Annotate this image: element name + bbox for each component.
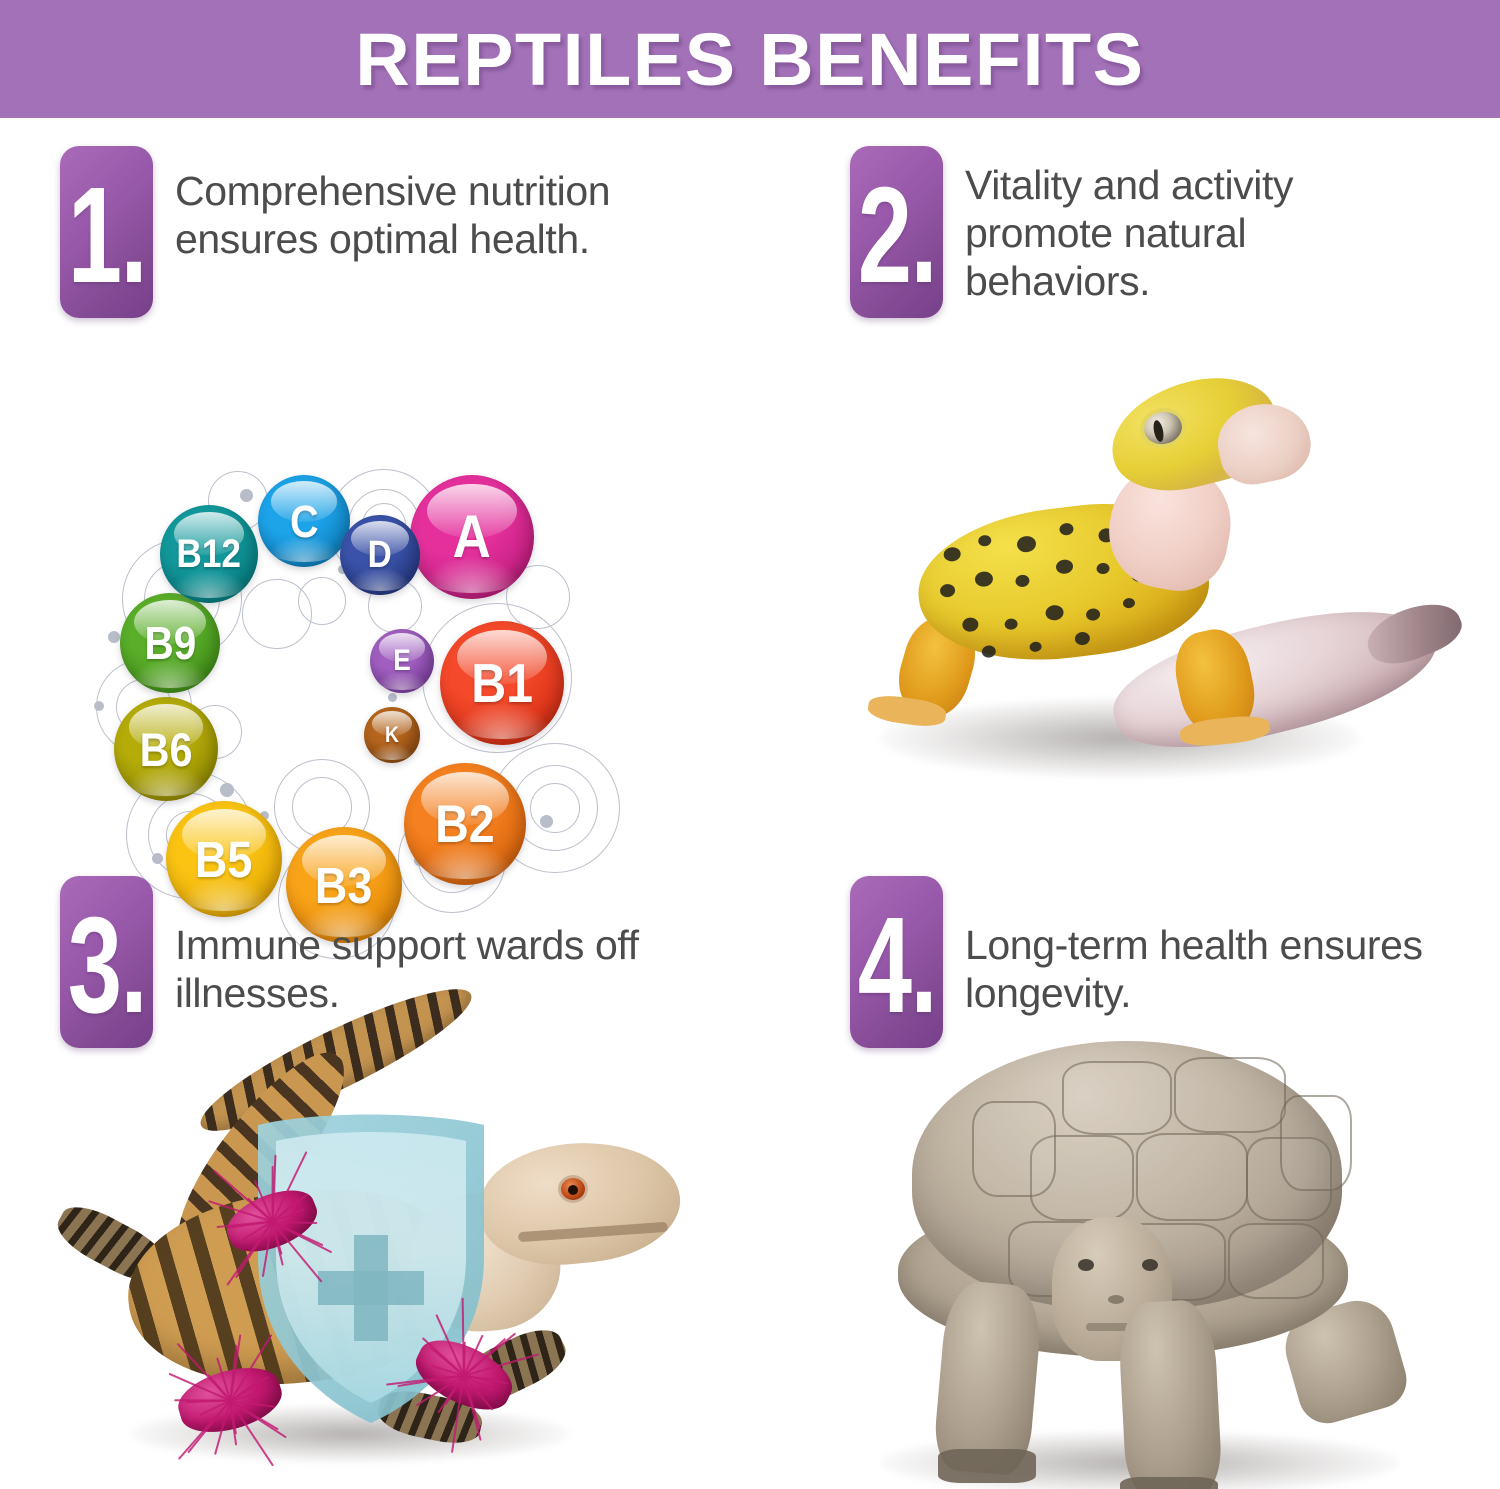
header-banner: REPTILES BENEFITS <box>0 0 1500 118</box>
gecko-spot <box>1059 522 1074 536</box>
vitamin-bubble-d: D <box>340 515 420 595</box>
benefit-text-4: Long-term health ensures longevity. <box>965 876 1435 1018</box>
vitamin-bubble-label: A <box>453 507 491 567</box>
page-title: REPTILES BENEFITS <box>355 17 1144 102</box>
benefit-panel-3: 3. Immune support wards off illnesses. <box>0 858 750 1489</box>
tortoise-scute <box>1280 1095 1352 1191</box>
vitamin-bubble-b1: B1 <box>440 621 564 745</box>
tortoise-eye-left <box>1078 1259 1094 1271</box>
tortoise-foot-left <box>938 1449 1036 1483</box>
immune-shield-illustration <box>10 1023 700 1463</box>
gecko-spot <box>978 534 992 547</box>
benefit-text-2: Vitality and activity promote natural be… <box>965 146 1415 306</box>
gecko-spot <box>981 645 996 659</box>
benefit-heading-2: 2. Vitality and activity promote natural… <box>850 146 1415 318</box>
skink-head <box>474 1133 685 1273</box>
tortoise-scute <box>1228 1223 1324 1299</box>
vitamin-bubble-label: D <box>368 536 392 574</box>
tortoise-foot-right <box>1120 1477 1218 1489</box>
number-badge-4: 4. <box>850 876 943 1048</box>
vitamin-bubble-label: E <box>393 646 411 676</box>
tortoise-eye-right <box>1142 1259 1158 1271</box>
decorative-ring <box>530 783 580 833</box>
decorative-dot <box>388 693 397 702</box>
tortoise-scute <box>1136 1133 1248 1221</box>
benefit-panel-2: 2. Vitality and activity promote natural… <box>750 118 1500 858</box>
vitamin-bubble-c: C <box>258 475 350 567</box>
vitamin-bubble-label: B3 <box>315 860 372 911</box>
vitamin-bubble-label: B1 <box>471 656 533 711</box>
skink-pupil <box>568 1185 578 1195</box>
benefit-panel-4: 4. Long-term health ensures longevity. <box>750 858 1500 1489</box>
vitamin-bubble-b9: B9 <box>120 593 220 693</box>
number-badge-2: 2. <box>850 146 943 318</box>
gecko-spot <box>1045 604 1065 621</box>
gecko-spot <box>1085 608 1100 622</box>
benefit-text-1: Comprehensive nutrition ensures optimal … <box>175 146 695 264</box>
decorative-ring <box>298 577 346 625</box>
gecko-spot <box>1055 559 1074 575</box>
number-badge-label: 1. <box>67 167 145 304</box>
number-badge-label: 3. <box>67 897 145 1034</box>
vitamin-bubble-label: B5 <box>195 834 252 885</box>
decorative-dot <box>540 815 553 828</box>
vitamin-bubble-b12: B12 <box>160 505 258 603</box>
number-badge-1: 1. <box>60 146 153 318</box>
gecko-spot <box>939 583 955 598</box>
benefit-heading-4: 4. Long-term health ensures longevity. <box>850 876 1435 1048</box>
decorative-dot <box>220 783 234 797</box>
vitamin-bubble-a: A <box>410 475 534 599</box>
vitamin-bubble-label: B2 <box>435 798 495 851</box>
number-badge-label: 2. <box>857 167 935 304</box>
decorative-dot <box>240 489 253 502</box>
vitamin-bubble-label: C <box>290 499 319 544</box>
vitamin-bubble-label: B6 <box>140 726 193 773</box>
gecko-spot <box>1016 535 1037 553</box>
decorative-dot <box>108 631 120 643</box>
gecko-spot <box>1029 641 1042 652</box>
vitamin-bubble-b6: B6 <box>114 697 218 801</box>
vitamin-bubble-label: K <box>385 724 399 746</box>
tortoise-scute <box>972 1101 1056 1197</box>
tortoise-scute <box>1062 1061 1172 1135</box>
number-badge-label: 4. <box>857 897 935 1034</box>
tortoise-nose <box>1108 1295 1124 1304</box>
gecko-spot <box>1096 562 1110 575</box>
gecko-spot <box>962 617 980 633</box>
vitamin-bubble-label: B12 <box>177 534 242 574</box>
benefit-heading-1: 1. Comprehensive nutrition ensures optim… <box>60 146 695 318</box>
leopard-gecko-illustration <box>810 368 1440 838</box>
gecko-spot <box>1015 574 1030 588</box>
giant-tortoise-illustration <box>820 1033 1430 1463</box>
tortoise-front-right-leg <box>1117 1299 1223 1489</box>
gecko-spot <box>1122 597 1135 608</box>
bacteria-flagellum <box>174 1400 230 1402</box>
gecko-spot <box>943 546 962 562</box>
gecko-spot <box>1074 631 1090 646</box>
infographic-page: REPTILES BENEFITS 1. Comprehensive nutri… <box>0 0 1500 1489</box>
vitamin-bubble-e: E <box>370 629 434 693</box>
benefit-panel-1: 1. Comprehensive nutrition ensures optim… <box>0 118 750 858</box>
tortoise-scute <box>1174 1057 1286 1133</box>
gecko-spot <box>1004 618 1018 631</box>
vitamin-bubble-k: K <box>364 707 420 763</box>
gecko-spot <box>974 571 994 588</box>
decorative-dot <box>94 701 104 711</box>
vitamin-bubble-label: B9 <box>144 620 196 666</box>
